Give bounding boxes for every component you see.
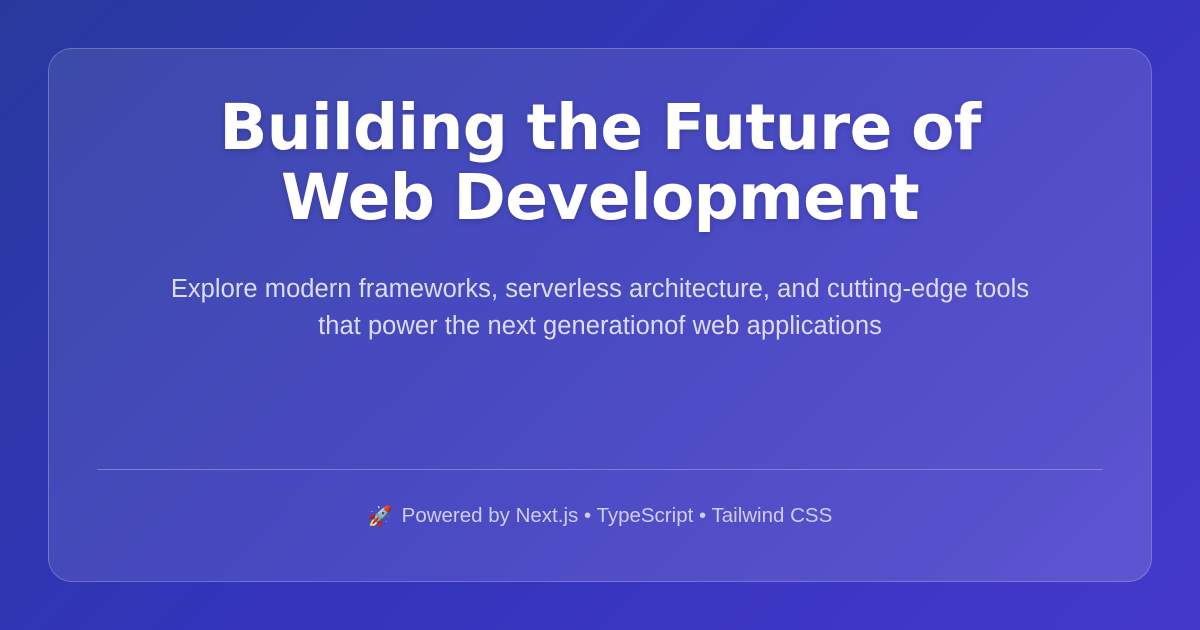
og-image-canvas: Building the Future of Web Development E… (0, 0, 1200, 630)
hero-card: Building the Future of Web Development E… (48, 48, 1152, 582)
page-subtitle: Explore modern frameworks, serverless ar… (160, 271, 1040, 345)
rocket-icon: 🚀 (368, 507, 393, 527)
footer-divider (97, 469, 1103, 470)
tech-stack-label: Powered by Next.js • TypeScript • Tailwi… (402, 503, 833, 529)
page-title: Building the Future of Web Development (160, 93, 1040, 233)
tech-stack-credits: 🚀 Powered by Next.js • TypeScript • Tail… (368, 503, 833, 529)
card-footer: 🚀 Powered by Next.js • TypeScript • Tail… (97, 469, 1103, 529)
